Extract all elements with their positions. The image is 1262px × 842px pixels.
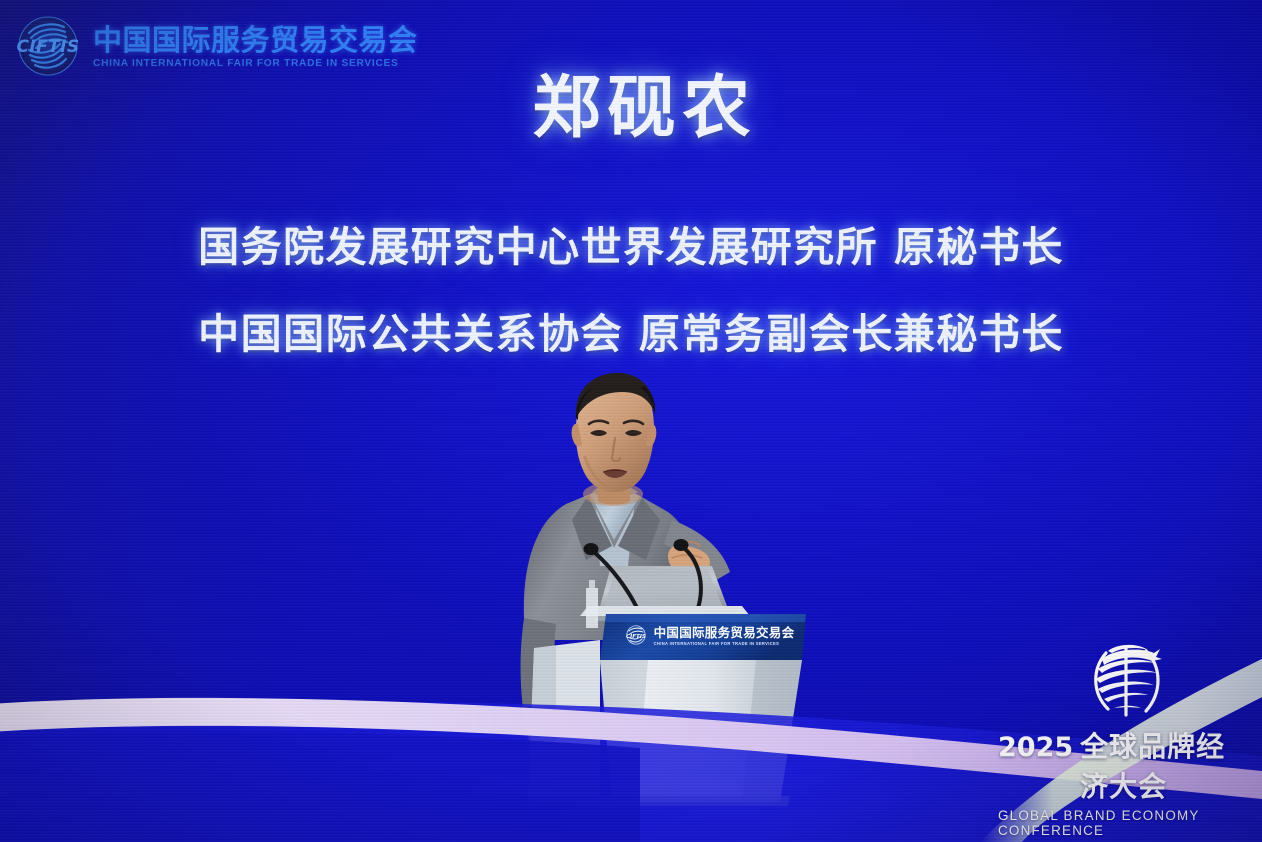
conference-name-cn: 全球品牌经济大会 [1080, 725, 1254, 805]
conference-year: 2025 [998, 732, 1073, 763]
conference-name-cn-row: 2025 全球品牌经济大会 [998, 725, 1254, 805]
speaker-head [572, 373, 657, 506]
water-bottle [586, 588, 598, 628]
conference-name-en: GLOBAL BRAND ECONOMY CONFERENCE [998, 808, 1254, 838]
conference-lockup: 2025 全球品牌经济大会 GLOBAL BRAND ECONOMY CONFE… [998, 635, 1254, 838]
presentation-stage-screenshot: CIFTIS 中国国际服务贸易交易会 CHINA INTERNATIONAL F… [0, 0, 1262, 842]
globe-stripes-arrow-icon [1078, 635, 1174, 727]
microphone-capsule [584, 543, 599, 555]
microphone-capsule [674, 539, 689, 551]
